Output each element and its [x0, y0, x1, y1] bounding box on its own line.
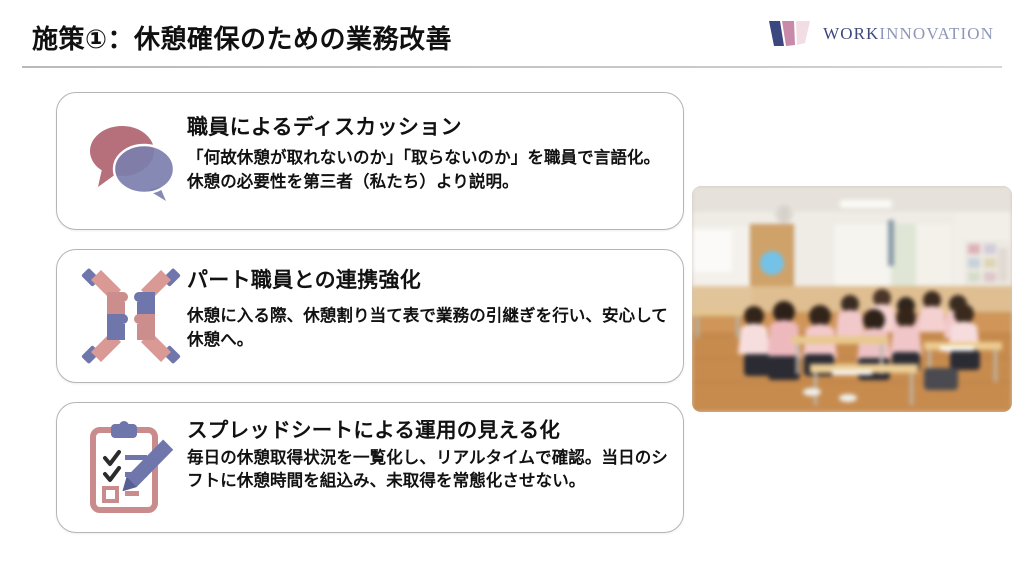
page-title: 施策①：休憩確保のための業務改善: [32, 19, 452, 56]
workinnovation-w-mark-icon: [768, 20, 814, 48]
clipboard-checklist-pen-icon: [75, 415, 187, 520]
card-title: 職員によるディスカッション: [187, 115, 669, 140]
brand-word-innovation: INNOVATION: [879, 24, 994, 43]
brand-wordmark: WORKINNOVATION: [823, 24, 994, 44]
puzzle-hands-icon: [75, 262, 187, 370]
brand-logo: WORKINNOVATION: [768, 20, 994, 48]
slide-header: 施策①：休憩確保のための業務改善 WORKINNOVATION: [0, 0, 1024, 72]
header-divider: [22, 66, 1002, 68]
photo-content: [692, 186, 1012, 412]
speech-bubbles-icon: [75, 105, 187, 217]
card-text: 休憩に入る際、休憩割り当て表で業務の引継ぎを行い、安心して休憩へ。: [187, 305, 669, 352]
measure-card-discussion[interactable]: 職員によるディスカッション 「何故休憩が取れないのか」「取らないのか」を職員で言…: [56, 92, 684, 230]
card-body: パート職員との連携強化 休憩に入る際、休憩割り当て表で業務の引継ぎを行い、安心し…: [187, 262, 669, 352]
brand-word-work: WORK: [823, 24, 879, 43]
card-body: スプレッドシートによる運用の見える化 毎日の休憩取得状況を一覧化し、リアルタイム…: [187, 415, 669, 493]
card-title: スプレッドシートによる運用の見える化: [187, 419, 669, 444]
measure-card-spreadsheet-visualization[interactable]: スプレッドシートによる運用の見える化 毎日の休憩取得状況を一覧化し、リアルタイム…: [56, 402, 684, 533]
card-title: パート職員との連携強化: [187, 268, 669, 293]
card-text: 「何故休憩が取れないのか」「取らないのか」を職員で言語化。休憩の必要性を第三者（…: [187, 147, 669, 194]
measure-card-list: 職員によるディスカッション 「何故休憩が取れないのか」「取らないのか」を職員で言…: [56, 92, 684, 533]
staff-meeting-classroom-photo: [692, 186, 1012, 412]
measure-card-part-staff-cooperation[interactable]: パート職員との連携強化 休憩に入る際、休憩割り当て表で業務の引継ぎを行い、安心し…: [56, 249, 684, 383]
card-text: 毎日の休憩取得状況を一覧化し、リアルタイムで確認。当日のシフトに休憩時間を組込み…: [187, 447, 669, 494]
card-body: 職員によるディスカッション 「何故休憩が取れないのか」「取らないのか」を職員で言…: [187, 105, 669, 194]
